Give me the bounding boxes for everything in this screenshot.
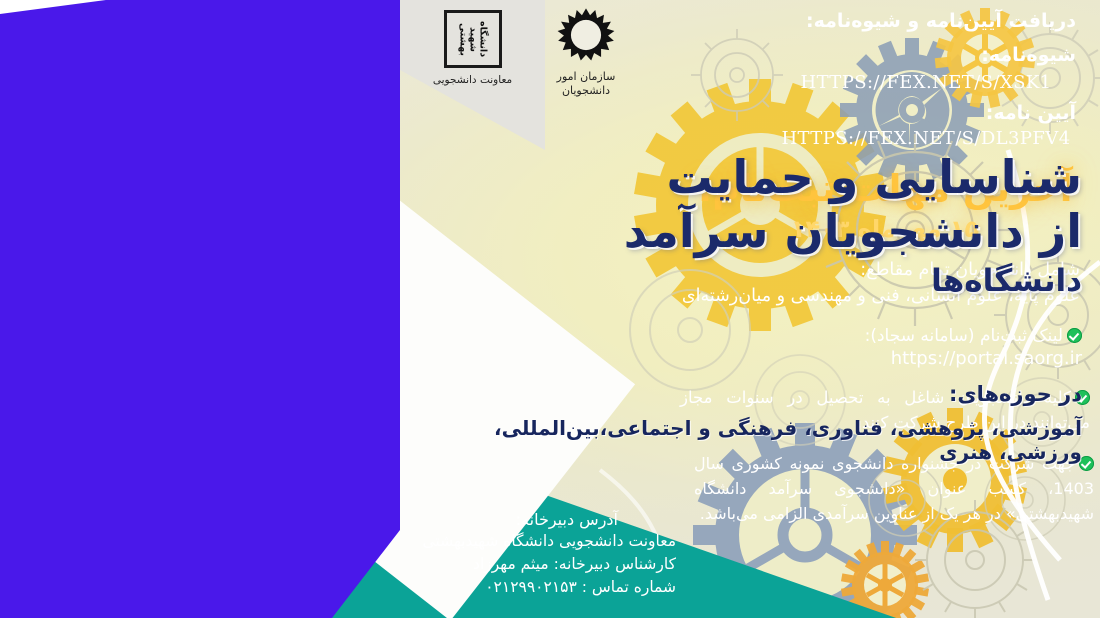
- list-item: لینک ثبت‌نام (سامانه سجاد): https://port…: [682, 326, 1082, 369]
- shahid-beheshti-university-logo-icon: دانشگاه شهید بهشتی: [444, 10, 502, 68]
- poster-headline: شناسایی و حمایت از دانشجویان سرآمد دانشگ…: [522, 150, 1082, 301]
- download-label: دریافت آیین‌نامه و شیوه‌نامه:: [776, 8, 1076, 36]
- fields-block: در حوزه‌های: آموزشی، پژوهشی، فناوری، فره…: [462, 382, 1082, 464]
- university-logo: دانشگاه شهید بهشتی معاونت دانشجویی: [425, 10, 520, 86]
- secretariat-contact-person: کارشناس دبیرخانه: میثم مهرزاد: [376, 553, 676, 576]
- bullet-1-text: لینک ثبت‌نام (سامانه سجاد):: [865, 326, 1063, 346]
- fields-label: در حوزه‌های:: [462, 382, 1082, 406]
- green-check-icon: [1067, 328, 1082, 343]
- organization-caption-line1: سازمان امور: [527, 70, 645, 84]
- secretariat-phone: شماره تماس : ۰۲۱۲۹۹۰۲۱۵۳: [376, 576, 676, 599]
- secretariat-address-label: آدرس دبیرخانه:: [388, 508, 618, 532]
- method-label: شیوه‌نامه:: [776, 42, 1076, 70]
- regulation-label: آیین نامه:: [776, 100, 1076, 128]
- organization-logo: سازمان امور دانشجویان: [527, 6, 645, 98]
- fields-value: آموزشی، پژوهشی، فناوری، فرهنگی و اجتماعی…: [462, 416, 1082, 464]
- registration-url[interactable]: https://portal.saorg.ir: [682, 348, 1082, 369]
- method-url[interactable]: HTTPS://FEX.NET/S/XSK1: [776, 70, 1076, 96]
- headline-line-1: شناسایی و حمایت: [522, 150, 1082, 204]
- headline-line-3: دانشگاه‌ها: [522, 261, 1082, 301]
- poster-canvas: دریافت آیین‌نامه و شیوه‌نامه: شیوه‌نامه:…: [0, 0, 1100, 618]
- regulation-url[interactable]: HTTPS://FEX.NET/S/DL3PFV4: [766, 126, 1086, 152]
- secretariat-address-value: معاونت دانشجویی دانشگاه شهیدبهشتی: [376, 530, 676, 553]
- student-affairs-organization-logo-icon: [555, 6, 617, 64]
- university-logo-caption: معاونت دانشجویی: [425, 74, 520, 86]
- bullet-3-text: جهت شرکت در جشنواره دانشجوی نمونه کشوری …: [694, 454, 1094, 523]
- organization-caption-line2: دانشجویان: [527, 84, 645, 98]
- organization-logo-caption: سازمان امور دانشجویان: [527, 70, 645, 98]
- headline-line-2: از دانشجویان سرآمد: [522, 204, 1082, 258]
- logo-group: دانشگاه شهید بهشتی معاونت دانشجویی سازما…: [425, 6, 645, 111]
